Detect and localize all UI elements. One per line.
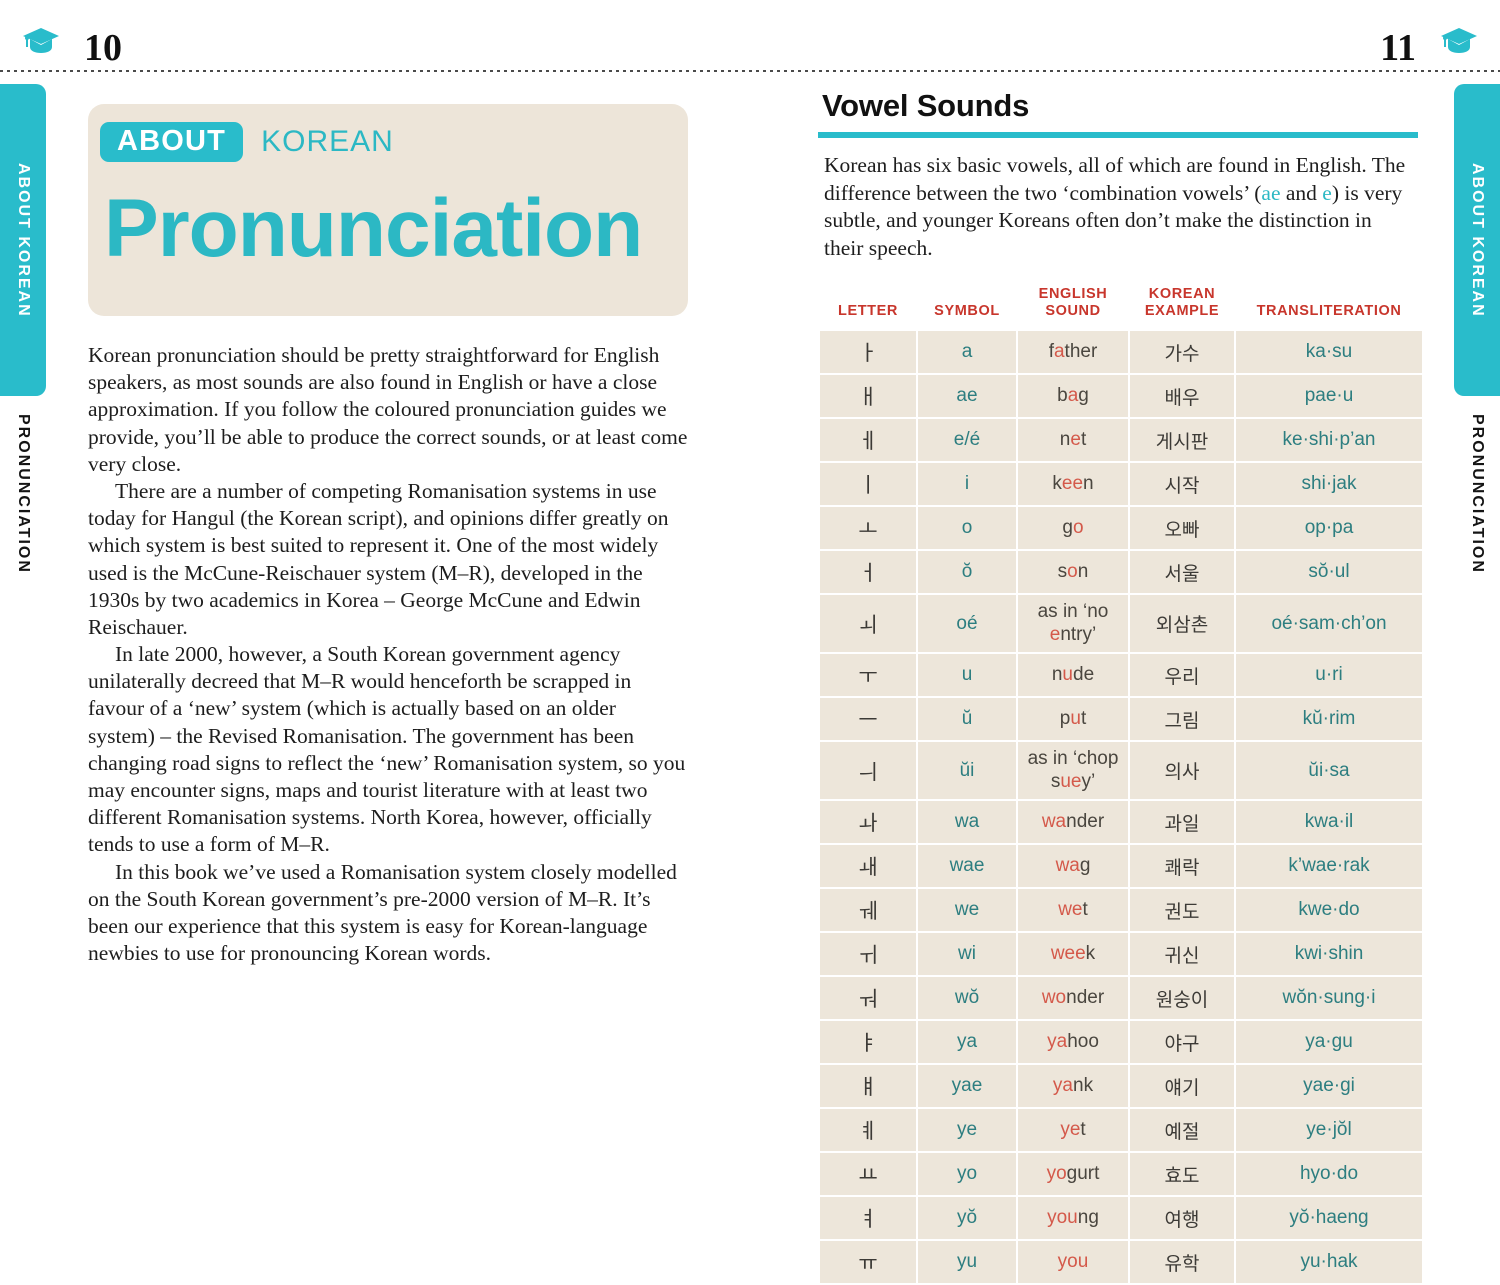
symbol: yu <box>957 1251 977 1272</box>
symbol: wae <box>950 855 985 876</box>
korean-example-cell: 유학 <box>1130 1241 1234 1283</box>
table-row: ㅐaebag배우pae·u <box>820 375 1422 417</box>
letter-cell: ㅡ <box>820 698 916 740</box>
symbol: a <box>962 341 973 362</box>
section-underline <box>818 132 1418 138</box>
table-row: ㅞwewet권도kwe·do <box>820 889 1422 931</box>
symbol: u <box>962 664 973 685</box>
graduation-cap-icon <box>1440 26 1478 59</box>
table-row: ㅑyayahoo야구ya·gu <box>820 1021 1422 1063</box>
korean-example: 과일 <box>1165 813 1200 835</box>
korean-example: 얘기 <box>1165 1077 1200 1099</box>
symbol-cell: oé <box>918 595 1016 652</box>
transliteration: pae·u <box>1305 385 1354 406</box>
transliteration-cell: ya·gu <box>1236 1021 1422 1063</box>
section-tab-right: PRONUNCIATION <box>1454 414 1500 574</box>
transliteration: shi·jak <box>1302 473 1357 494</box>
korean-example-cell: 배우 <box>1130 375 1234 417</box>
table-row: ㅔe/énet게시판ke·shi·p’an <box>820 419 1422 461</box>
korean-example-cell: 원숭이 <box>1130 977 1234 1019</box>
transliteration-cell: yu·hak <box>1236 1241 1422 1283</box>
symbol-cell: ŭi <box>918 742 1016 799</box>
korean-example-cell: 얘기 <box>1130 1065 1234 1107</box>
symbol-cell: ŭ <box>918 698 1016 740</box>
letter: ㅞ <box>858 899 877 923</box>
transliteration: yae·gi <box>1303 1075 1355 1096</box>
table-row: ㅜunude우리u·ri <box>820 654 1422 696</box>
chapter-tab-label: ABOUT KOREAN <box>14 163 32 318</box>
symbol: oé <box>956 613 977 634</box>
english-sound: bag <box>1057 385 1089 406</box>
english-sound: yahoo <box>1047 1031 1099 1052</box>
symbol: yŏ <box>957 1207 977 1228</box>
letter: ㅛ <box>858 1163 877 1187</box>
column-header-transliteration: TRANSLITERATION <box>1236 282 1422 329</box>
korean-example: 게시판 <box>1156 431 1208 453</box>
about-badge: ABOUT <box>100 122 243 162</box>
letter-cell: ㅏ <box>820 331 916 373</box>
transliteration-cell: op·pa <box>1236 507 1422 549</box>
korean-example: 배우 <box>1165 387 1200 409</box>
chapter-tab-label: ABOUT KOREAN <box>1468 163 1486 318</box>
transliteration: u·ri <box>1315 664 1342 685</box>
symbol-cell: a <box>918 331 1016 373</box>
table-row: ㅝwŏwonder원숭이wŏn·sung·i <box>820 977 1422 1019</box>
letter: ㅘ <box>858 811 877 835</box>
transliteration-cell: yŏ·haeng <box>1236 1197 1422 1239</box>
english-sound-cell: young <box>1018 1197 1128 1239</box>
table-body: ㅏafather가수ka·suㅐaebag배우pae·uㅔe/énet게시판ke… <box>820 331 1422 1283</box>
symbol: ye <box>957 1119 977 1140</box>
transliteration-cell: wŏn·sung·i <box>1236 977 1422 1019</box>
transliteration-cell: kwa·il <box>1236 801 1422 843</box>
korean-example-cell: 가수 <box>1130 331 1234 373</box>
transliteration: op·pa <box>1305 517 1354 538</box>
korean-example: 권도 <box>1165 901 1200 923</box>
sound-highlight: e <box>1070 429 1081 450</box>
intro-vowel-e: e <box>1322 181 1332 205</box>
symbol-cell: o <box>918 507 1016 549</box>
symbol-cell: e/é <box>918 419 1016 461</box>
english-sound-cell: father <box>1018 331 1128 373</box>
symbol: wa <box>955 811 979 832</box>
section-tab-label: PRONUNCIATION <box>14 414 32 574</box>
letter: ㅐ <box>858 385 877 409</box>
letter: ㅟ <box>858 943 877 967</box>
korean-example-cell: 그림 <box>1130 698 1234 740</box>
korean-example-cell: 서울 <box>1130 551 1234 593</box>
table-header-row: LETTER SYMBOL ENGLISH SOUND KOREAN EXAMP… <box>820 282 1422 329</box>
transliteration-cell: ka·su <box>1236 331 1422 373</box>
transliteration: oé·sam·ch’on <box>1271 613 1386 634</box>
sound-highlight: ye <box>1060 1119 1080 1140</box>
symbol-cell: yo <box>918 1153 1016 1195</box>
chapter-tab-right[interactable]: ABOUT KOREAN <box>1454 84 1500 396</box>
symbol-cell: i <box>918 463 1016 505</box>
letter-cell: ㅐ <box>820 375 916 417</box>
letter-cell: ㅜ <box>820 654 916 696</box>
symbol: i <box>965 473 969 494</box>
transliteration-cell: kŭ·rim <box>1236 698 1422 740</box>
english-sound: you <box>1058 1251 1089 1272</box>
letter: ㅜ <box>858 664 877 688</box>
symbol: yo <box>957 1163 977 1184</box>
korean-example: 쾌락 <box>1165 857 1200 879</box>
sound-highlight: wa <box>1056 855 1080 876</box>
page-number-right: 11 <box>1380 26 1416 70</box>
korean-example-cell: 시작 <box>1130 463 1234 505</box>
english-sound: yank <box>1053 1075 1093 1096</box>
english-sound-cell: week <box>1018 933 1128 975</box>
transliteration: ŭi·sa <box>1308 760 1349 781</box>
table-row: ㅓŏson서울sŏ·ul <box>820 551 1422 593</box>
korean-example: 의사 <box>1165 761 1200 783</box>
korean-example: 여행 <box>1165 1209 1200 1231</box>
column-header-english-sound: ENGLISH SOUND <box>1018 282 1128 329</box>
letter-cell: ㅛ <box>820 1153 916 1195</box>
english-sound: net <box>1060 429 1086 450</box>
transliteration: ka·su <box>1306 341 1352 362</box>
english-sound-cell: yet <box>1018 1109 1128 1151</box>
symbol: ŭi <box>960 760 975 781</box>
transliteration: ke·shi·p’an <box>1283 429 1376 450</box>
english-sound-cell: yahoo <box>1018 1021 1128 1063</box>
transliteration: k’wae·rak <box>1288 855 1369 876</box>
side-index-tab-right[interactable]: ABOUT KOREAN PRONUNCIATION <box>1454 84 1500 574</box>
korean-example-cell: 게시판 <box>1130 419 1234 461</box>
section-tab-left: PRONUNCIATION <box>0 414 46 574</box>
transliteration-cell: ye·jŏl <box>1236 1109 1422 1151</box>
chapter-tab-left[interactable]: ABOUT KOREAN <box>0 84 46 396</box>
sound-highlight: wa <box>1042 811 1066 832</box>
korean-example: 오빠 <box>1165 519 1200 541</box>
table-row: ㅙwaewag쾌락k’wae·rak <box>820 845 1422 887</box>
letter-cell: ㅝ <box>820 977 916 1019</box>
korean-example-cell: 과일 <box>1130 801 1234 843</box>
letter-cell: ㅢ <box>820 742 916 799</box>
paragraph: In this book we’ve used a Romanisation s… <box>88 859 688 968</box>
transliteration: sŏ·ul <box>1308 561 1349 582</box>
korean-example: 외삼촌 <box>1156 614 1208 636</box>
english-sound: wonder <box>1042 987 1104 1008</box>
sound-highlight: ee <box>1062 473 1083 494</box>
table-row: ㅏafather가수ka·su <box>820 331 1422 373</box>
letter: ㅙ <box>858 855 877 879</box>
korean-example-cell: 의사 <box>1130 742 1234 799</box>
transliteration-cell: u·ri <box>1236 654 1422 696</box>
symbol-cell: wi <box>918 933 1016 975</box>
symbol-cell: wae <box>918 845 1016 887</box>
transliteration-cell: k’wae·rak <box>1236 845 1422 887</box>
korean-example-cell: 권도 <box>1130 889 1234 931</box>
page-number-left: 10 <box>84 26 122 70</box>
sound-highlight: u <box>1062 664 1073 685</box>
symbol: wŏ <box>955 987 979 1008</box>
symbol-cell: wa <box>918 801 1016 843</box>
korean-example-cell: 쾌락 <box>1130 845 1234 887</box>
korean-example: 유학 <box>1165 1253 1200 1275</box>
right-page: Vowel Sounds Korean has six basic vowels… <box>818 88 1418 1285</box>
symbol: ŏ <box>962 561 973 582</box>
transliteration-cell: ŭi·sa <box>1236 742 1422 799</box>
letter: ㅚ <box>858 613 877 637</box>
page-title: Pronunciation <box>104 188 642 270</box>
paragraph: Korean pronunciation should be pretty st… <box>88 342 688 478</box>
english-sound: son <box>1058 561 1089 582</box>
table-row: ㅕyŏyoung여행yŏ·haeng <box>820 1197 1422 1239</box>
korean-example-cell: 효도 <box>1130 1153 1234 1195</box>
letter: ㅖ <box>858 1119 877 1143</box>
english-sound-cell: bag <box>1018 375 1128 417</box>
letter-cell: ㅚ <box>820 595 916 652</box>
sound-highlight: u <box>1070 708 1081 729</box>
table-row: ㅗogo오빠op·pa <box>820 507 1422 549</box>
transliteration-cell: kwe·do <box>1236 889 1422 931</box>
letter: ㅑ <box>858 1031 877 1055</box>
graduation-cap-icon <box>22 26 60 59</box>
table-row: ㅛyoyogurt효도hyo·do <box>820 1153 1422 1195</box>
english-sound: yet <box>1060 1119 1085 1140</box>
symbol: e/é <box>954 429 980 450</box>
letter: ㅒ <box>858 1075 877 1099</box>
letter-cell: ㅓ <box>820 551 916 593</box>
sound-highlight: ya <box>1047 1031 1067 1052</box>
transliteration-cell: pae·u <box>1236 375 1422 417</box>
english-sound-cell: put <box>1018 698 1128 740</box>
symbol: we <box>955 899 979 920</box>
english-sound: keen <box>1052 473 1093 494</box>
sound-highlight: wee <box>1051 943 1086 964</box>
english-sound: wander <box>1042 811 1104 832</box>
transliteration: kwe·do <box>1298 899 1359 920</box>
english-sound-cell: nude <box>1018 654 1128 696</box>
letter: ㅓ <box>858 561 877 585</box>
table-row: ㅟwiweek귀신kwi·shin <box>820 933 1422 975</box>
letter-cell: ㅠ <box>820 1241 916 1283</box>
symbol-cell: yae <box>918 1065 1016 1107</box>
symbol: ya <box>957 1031 977 1052</box>
korean-example-cell: 야구 <box>1130 1021 1234 1063</box>
english-sound-cell: as in ‘no entry’ <box>1018 595 1128 652</box>
english-sound-cell: go <box>1018 507 1128 549</box>
english-sound: nude <box>1052 664 1094 685</box>
page-header: 10 11 <box>0 0 1500 72</box>
letter: ㅝ <box>858 987 877 1011</box>
table-row: ㅣikeen시작shi·jak <box>820 463 1422 505</box>
symbol: yae <box>952 1075 983 1096</box>
korean-example: 가수 <box>1165 343 1200 365</box>
symbol-cell: ye <box>918 1109 1016 1151</box>
symbol-cell: ŏ <box>918 551 1016 593</box>
english-sound: week <box>1051 943 1095 964</box>
english-sound: father <box>1049 341 1098 362</box>
table-row: ㅘwawander과일kwa·il <box>820 801 1422 843</box>
letter: ㅣ <box>858 473 877 497</box>
sound-highlight: a <box>1054 341 1065 362</box>
transliteration: yŏ·haeng <box>1289 1207 1368 1228</box>
korean-example: 서울 <box>1165 563 1200 585</box>
korean-example-cell: 여행 <box>1130 1197 1234 1239</box>
letter: ㅔ <box>858 429 877 453</box>
english-sound-cell: wander <box>1018 801 1128 843</box>
transliteration: kwi·shin <box>1295 943 1364 964</box>
english-sound: as in ‘chop suey’ <box>1028 748 1119 791</box>
table-row: ㅚoéas in ‘no entry’외삼촌oé·sam·ch’on <box>820 595 1422 652</box>
korean-example: 야구 <box>1165 1033 1200 1055</box>
korean-example-cell: 외삼촌 <box>1130 595 1234 652</box>
symbol-cell: yŏ <box>918 1197 1016 1239</box>
letter: ㅏ <box>858 341 877 365</box>
paragraph: There are a number of competing Romanisa… <box>88 478 688 641</box>
english-sound: put <box>1060 708 1086 729</box>
korean-example: 우리 <box>1165 666 1200 688</box>
english-sound-cell: wet <box>1018 889 1128 931</box>
about-language-label: KOREAN <box>261 125 394 159</box>
letter-cell: ㅗ <box>820 507 916 549</box>
transliteration: kŭ·rim <box>1303 708 1356 729</box>
about-header-row: ABOUT KOREAN <box>100 122 394 162</box>
sound-highlight: o <box>1073 517 1084 538</box>
section-title: Vowel Sounds <box>822 88 1418 124</box>
side-index-tab-left[interactable]: ABOUT KOREAN PRONUNCIATION <box>0 84 46 574</box>
letter-cell: ㅣ <box>820 463 916 505</box>
transliteration: hyo·do <box>1300 1163 1358 1184</box>
transliteration: wŏn·sung·i <box>1283 987 1376 1008</box>
column-header-letter: LETTER <box>820 282 916 329</box>
symbol-cell: we <box>918 889 1016 931</box>
english-sound-cell: son <box>1018 551 1128 593</box>
english-sound-cell: you <box>1018 1241 1128 1283</box>
transliteration: yu·hak <box>1300 1251 1357 1272</box>
column-header-symbol: SYMBOL <box>918 282 1016 329</box>
english-sound: wag <box>1056 855 1091 876</box>
transliteration: ya·gu <box>1305 1031 1353 1052</box>
table-row: ㅢŭias in ‘chop suey’의사ŭi·sa <box>820 742 1422 799</box>
korean-example: 시작 <box>1165 475 1200 497</box>
header-divider <box>0 70 1500 72</box>
letter-cell: ㅟ <box>820 933 916 975</box>
vowel-sounds-table: LETTER SYMBOL ENGLISH SOUND KOREAN EXAMP… <box>818 280 1424 1285</box>
korean-example-cell: 우리 <box>1130 654 1234 696</box>
letter: ㅡ <box>858 708 877 732</box>
paragraph: In late 2000, however, a South Korean go… <box>88 641 688 859</box>
sound-highlight: you <box>1058 1251 1089 1272</box>
sound-highlight: you <box>1047 1207 1078 1228</box>
intro-vowel-ae: ae <box>1261 181 1280 205</box>
english-sound-cell: net <box>1018 419 1128 461</box>
english-sound: wet <box>1058 899 1088 920</box>
english-sound-cell: yogurt <box>1018 1153 1128 1195</box>
symbol: ŭ <box>962 708 973 729</box>
korean-example: 원숭이 <box>1156 989 1208 1011</box>
letter-cell: ㅘ <box>820 801 916 843</box>
sound-highlight: e <box>1050 624 1061 645</box>
english-sound: go <box>1062 517 1083 538</box>
letter: ㅕ <box>858 1207 877 1231</box>
symbol-cell: ya <box>918 1021 1016 1063</box>
transliteration-cell: oé·sam·ch’on <box>1236 595 1422 652</box>
transliteration: ye·jŏl <box>1306 1119 1351 1140</box>
symbol-cell: yu <box>918 1241 1016 1283</box>
korean-example-cell: 오빠 <box>1130 507 1234 549</box>
section-intro-text: Korean has six basic vowels, all of whic… <box>824 152 1414 262</box>
english-sound: young <box>1047 1207 1099 1228</box>
table-row: ㅠyuyou유학yu·hak <box>820 1241 1422 1283</box>
symbol: ae <box>956 385 977 406</box>
table-row: ㅖyeyet예절ye·jŏl <box>820 1109 1422 1151</box>
transliteration-cell: yae·gi <box>1236 1065 1422 1107</box>
letter: ㅗ <box>858 517 877 541</box>
chapter-title-panel: ABOUT KOREAN Pronunciation <box>88 104 688 316</box>
sound-highlight: ue <box>1060 771 1081 792</box>
transliteration-cell: sŏ·ul <box>1236 551 1422 593</box>
transliteration-cell: hyo·do <box>1236 1153 1422 1195</box>
sound-highlight: ya <box>1053 1075 1073 1096</box>
transliteration-cell: kwi·shin <box>1236 933 1422 975</box>
letter: ㅠ <box>858 1251 877 1275</box>
symbol-cell: ae <box>918 375 1016 417</box>
sound-highlight: yo <box>1047 1163 1067 1184</box>
sound-highlight: we <box>1058 899 1082 920</box>
sound-highlight: a <box>1068 385 1079 406</box>
intro-body-copy: Korean pronunciation should be pretty st… <box>88 342 688 967</box>
english-sound-cell: wonder <box>1018 977 1128 1019</box>
korean-example: 효도 <box>1165 1165 1200 1187</box>
symbol-cell: u <box>918 654 1016 696</box>
korean-example-cell: 귀신 <box>1130 933 1234 975</box>
english-sound-cell: keen <box>1018 463 1128 505</box>
table-row: ㅒyaeyank얘기yae·gi <box>820 1065 1422 1107</box>
letter: ㅢ <box>858 760 877 784</box>
transliteration-cell: shi·jak <box>1236 463 1422 505</box>
symbol-cell: wŏ <box>918 977 1016 1019</box>
left-page: ABOUT KOREAN Pronunciation Korean pronun… <box>88 104 696 967</box>
letter-cell: ㅕ <box>820 1197 916 1239</box>
english-sound-cell: wag <box>1018 845 1128 887</box>
symbol: o <box>962 517 973 538</box>
english-sound-cell: yank <box>1018 1065 1128 1107</box>
intro-part-c: and <box>1281 181 1323 205</box>
letter-cell: ㅞ <box>820 889 916 931</box>
korean-example: 그림 <box>1165 710 1200 732</box>
section-tab-label: PRONUNCIATION <box>1468 414 1486 574</box>
table-row: ㅡŭput그림kŭ·rim <box>820 698 1422 740</box>
transliteration-cell: ke·shi·p’an <box>1236 419 1422 461</box>
korean-example-cell: 예절 <box>1130 1109 1234 1151</box>
sound-highlight: wo <box>1042 987 1066 1008</box>
column-header-korean-example: KOREAN EXAMPLE <box>1130 282 1234 329</box>
letter-cell: ㅑ <box>820 1021 916 1063</box>
english-sound-cell: as in ‘chop suey’ <box>1018 742 1128 799</box>
letter-cell: ㅙ <box>820 845 916 887</box>
english-sound: yogurt <box>1047 1163 1100 1184</box>
letter-cell: ㅔ <box>820 419 916 461</box>
transliteration: kwa·il <box>1305 811 1354 832</box>
korean-example: 귀신 <box>1165 945 1200 967</box>
symbol: wi <box>958 943 976 964</box>
letter-cell: ㅒ <box>820 1065 916 1107</box>
letter-cell: ㅖ <box>820 1109 916 1151</box>
sound-highlight: o <box>1067 561 1078 582</box>
korean-example: 예절 <box>1165 1121 1200 1143</box>
english-sound: as in ‘no entry’ <box>1038 601 1109 644</box>
